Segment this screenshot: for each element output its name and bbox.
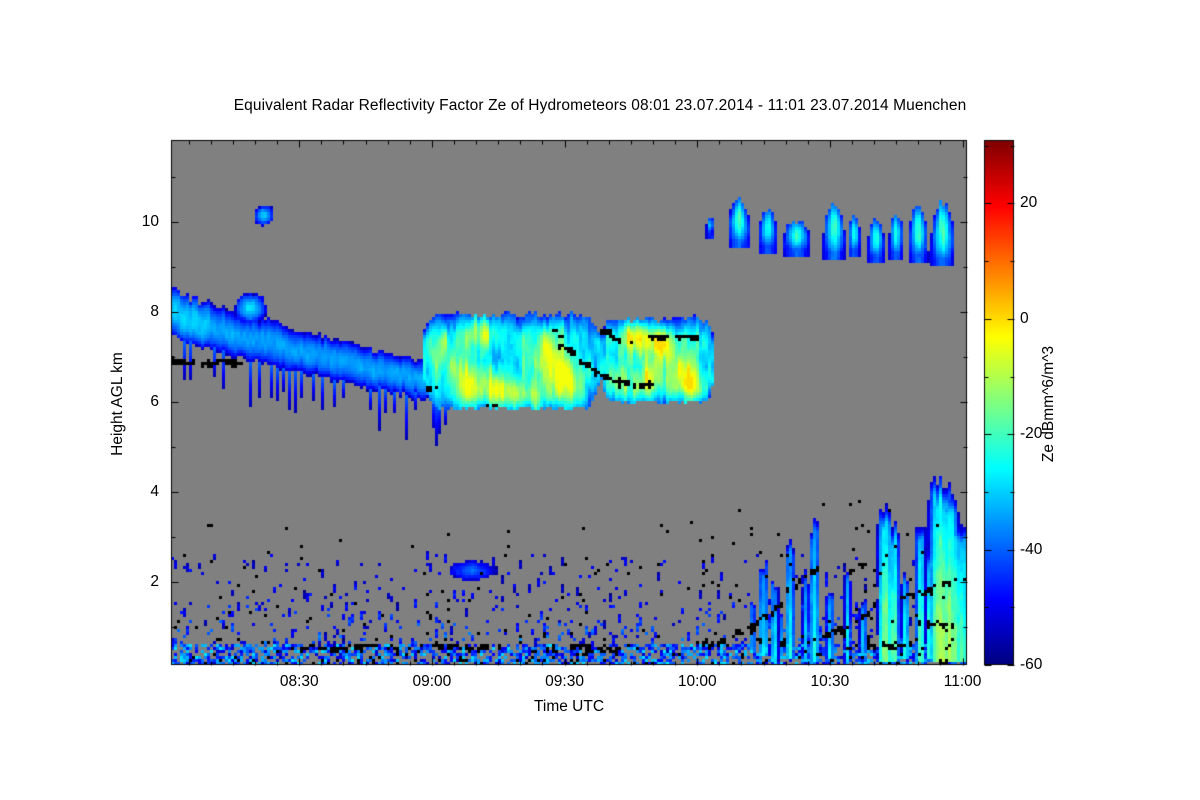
x-tick-label: 09:00 [413, 673, 452, 691]
colorbar-tick-label: 20 [1020, 194, 1037, 212]
y-tick-label: 2 [150, 573, 159, 591]
colorbar-tick-label: -20 [1020, 425, 1042, 443]
x-tick-label: 09:30 [545, 673, 584, 691]
x-tick-label: 10:30 [811, 673, 850, 691]
x-tick-label: 11:00 [944, 673, 982, 691]
y-tick-label: 4 [150, 483, 159, 501]
radar-reflectivity-figure: Equivalent Radar Reflectivity Factor Ze … [0, 0, 1200, 800]
colorbar-tick-label: -40 [1020, 541, 1042, 559]
colorbar-tick-label: 0 [1020, 310, 1029, 328]
y-tick-label: 6 [150, 393, 159, 411]
y-tick-label: 8 [150, 303, 159, 321]
x-axis-label: Time UTC [534, 698, 604, 716]
colorbar-label: Ze dBmm^6/m^3 [1040, 346, 1058, 462]
colorbar-tick-label: -60 [1020, 656, 1042, 674]
y-axis-label: Height AGL km [109, 352, 127, 456]
x-tick-label: 10:00 [678, 673, 717, 691]
chart-title: Equivalent Radar Reflectivity Factor Ze … [234, 97, 967, 115]
reflectivity-heatmap-canvas [0, 0, 1200, 800]
y-tick-label: 10 [142, 213, 159, 231]
x-tick-label: 08:30 [280, 673, 319, 691]
